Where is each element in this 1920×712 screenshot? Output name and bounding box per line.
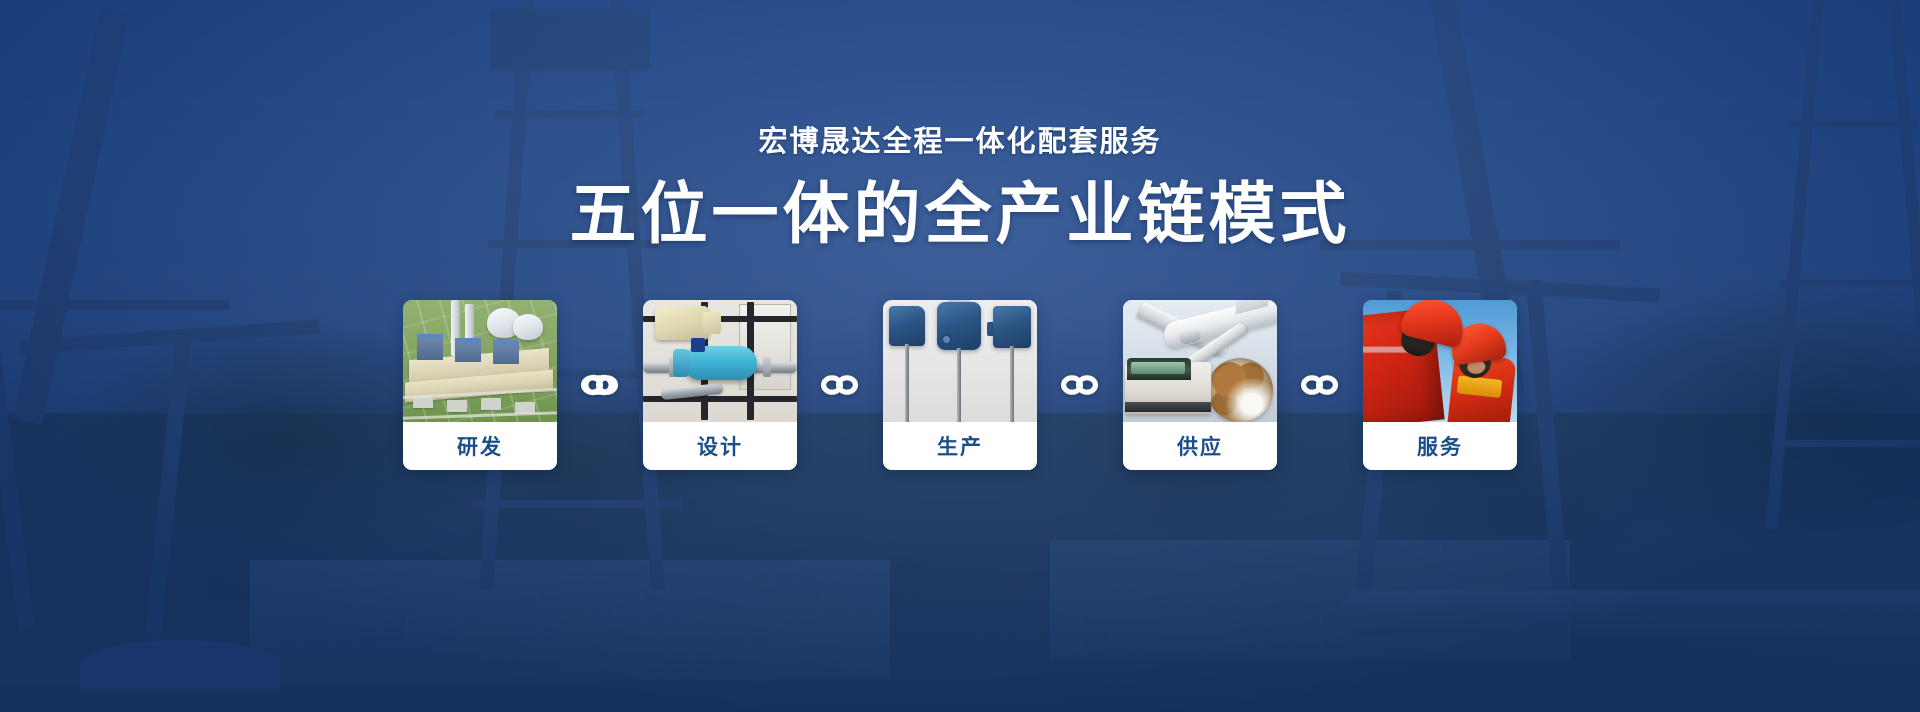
chain-card-image-design xyxy=(643,300,797,422)
chain-card-research[interactable]: 研发 xyxy=(403,300,557,470)
chain-card-design[interactable]: 设计 xyxy=(643,300,797,470)
chain-link-icon-2 xyxy=(797,370,883,400)
chain-card-label-design: 设计 xyxy=(643,422,797,470)
banner-title: 五位一体的全产业链模式 xyxy=(570,181,1351,248)
chain-card-production[interactable]: 生产 xyxy=(883,300,1037,470)
chain-link-icon-4 xyxy=(1277,370,1363,400)
chain-card-image-service xyxy=(1363,300,1517,422)
chain-card-label-research: 研发 xyxy=(403,422,557,470)
banner-content: 宏博晟达全程一体化配套服务 五位一体的全产业链模式 研发 xyxy=(0,0,1920,712)
chain-card-image-production xyxy=(883,300,1037,422)
chain-card-label-production: 生产 xyxy=(883,422,1037,470)
chain-link-icon-3 xyxy=(1037,370,1123,400)
chain-link-icon-1 xyxy=(557,370,643,400)
value-chain-row: 研发 xyxy=(403,300,1517,470)
chain-card-image-research xyxy=(403,300,557,422)
chain-card-service[interactable]: 服务 xyxy=(1363,300,1517,470)
chain-card-supply[interactable]: 供应 xyxy=(1123,300,1277,470)
chain-card-image-supply xyxy=(1123,300,1277,422)
banner-subtitle: 宏博晟达全程一体化配套服务 xyxy=(758,128,1161,157)
hero-banner: 宏博晟达全程一体化配套服务 五位一体的全产业链模式 研发 xyxy=(0,0,1920,712)
chain-card-label-supply: 供应 xyxy=(1123,422,1277,470)
chain-card-label-service: 服务 xyxy=(1363,422,1517,470)
